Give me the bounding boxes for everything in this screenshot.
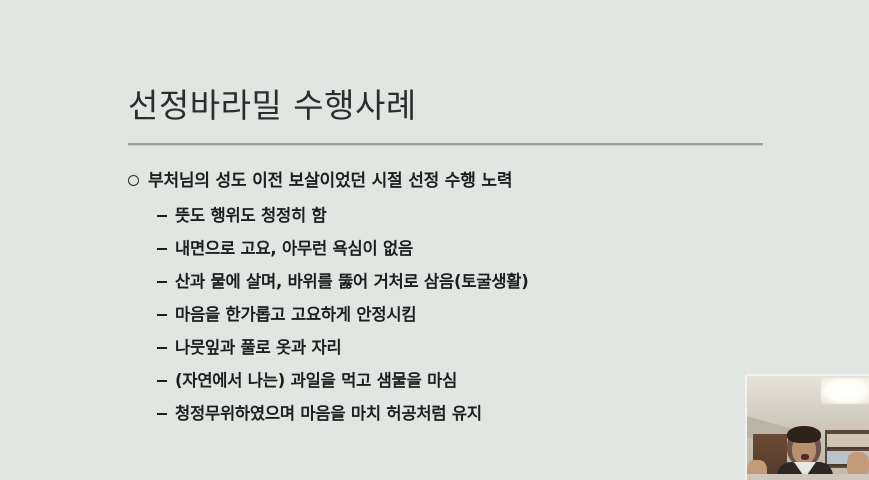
title-divider bbox=[128, 143, 763, 146]
list-item: 산과 물에 살며, 바위를 뚫어 거처로 삼음(토굴생활) bbox=[128, 269, 788, 294]
dash-icon bbox=[157, 347, 167, 349]
list-item: 청정무위하였으며 마음을 마치 허공처럼 유지 bbox=[128, 401, 788, 426]
webcam-ceiling-lamp bbox=[821, 378, 869, 404]
dash-icon bbox=[157, 215, 167, 217]
list-item-label: 뜻도 행위도 청정히 함 bbox=[175, 203, 326, 228]
dash-icon bbox=[157, 281, 167, 283]
dash-icon bbox=[157, 314, 167, 316]
list-item-label: 산과 물에 살며, 바위를 뚫어 거처로 삼음(토굴생활) bbox=[175, 269, 529, 294]
list-item: 마음을 한가롭고 고요하게 안정시킴 bbox=[128, 302, 788, 327]
list-item: 나뭇잎과 풀로 옷과 자리 bbox=[128, 335, 788, 360]
list-item-label: 청정무위하였으며 마음을 마치 허공처럼 유지 bbox=[175, 401, 482, 426]
bullet-list: 부처님의 성도 이전 보살이었던 시절 선정 수행 노력 뜻도 행위도 청정히 … bbox=[128, 168, 788, 434]
list-item-label: 나뭇잎과 풀로 옷과 자리 bbox=[175, 335, 341, 360]
webcam-foreground-strip bbox=[747, 474, 869, 480]
page-title: 선정바라밀 수행사례 bbox=[128, 84, 417, 128]
list-item-label: 내면으로 고요, 아무런 욕심이 없음 bbox=[175, 236, 413, 261]
hollow-circle-icon bbox=[128, 175, 139, 186]
dash-icon bbox=[157, 413, 167, 415]
list-item-label: (자연에서 나는) 과일을 먹고 샘물을 마심 bbox=[175, 368, 457, 393]
webcam-shelf-row bbox=[827, 434, 869, 449]
list-item: (자연에서 나는) 과일을 먹고 샘물을 마심 bbox=[128, 368, 788, 393]
list-item-label: 마음을 한가롭고 고요하게 안정시킴 bbox=[175, 302, 416, 327]
webcam-room-background bbox=[747, 376, 869, 480]
list-item-label: 부처님의 성도 이전 보살이었던 시절 선정 수행 노력 bbox=[148, 168, 512, 194]
list-item: 부처님의 성도 이전 보살이었던 시절 선정 수행 노력 bbox=[128, 168, 788, 194]
list-item: 뜻도 행위도 청정히 함 bbox=[128, 203, 788, 228]
list-item: 내면으로 고요, 아무런 욕심이 없음 bbox=[128, 236, 788, 261]
dash-icon bbox=[157, 380, 167, 382]
webcam-person-hair bbox=[787, 426, 821, 443]
presentation-slide: 선정바라밀 수행사례 부처님의 성도 이전 보살이었던 시절 선정 수행 노력 … bbox=[0, 0, 869, 480]
dash-icon bbox=[157, 248, 167, 250]
webcam-person-mouth bbox=[801, 454, 809, 460]
presenter-webcam-video[interactable] bbox=[745, 374, 869, 480]
